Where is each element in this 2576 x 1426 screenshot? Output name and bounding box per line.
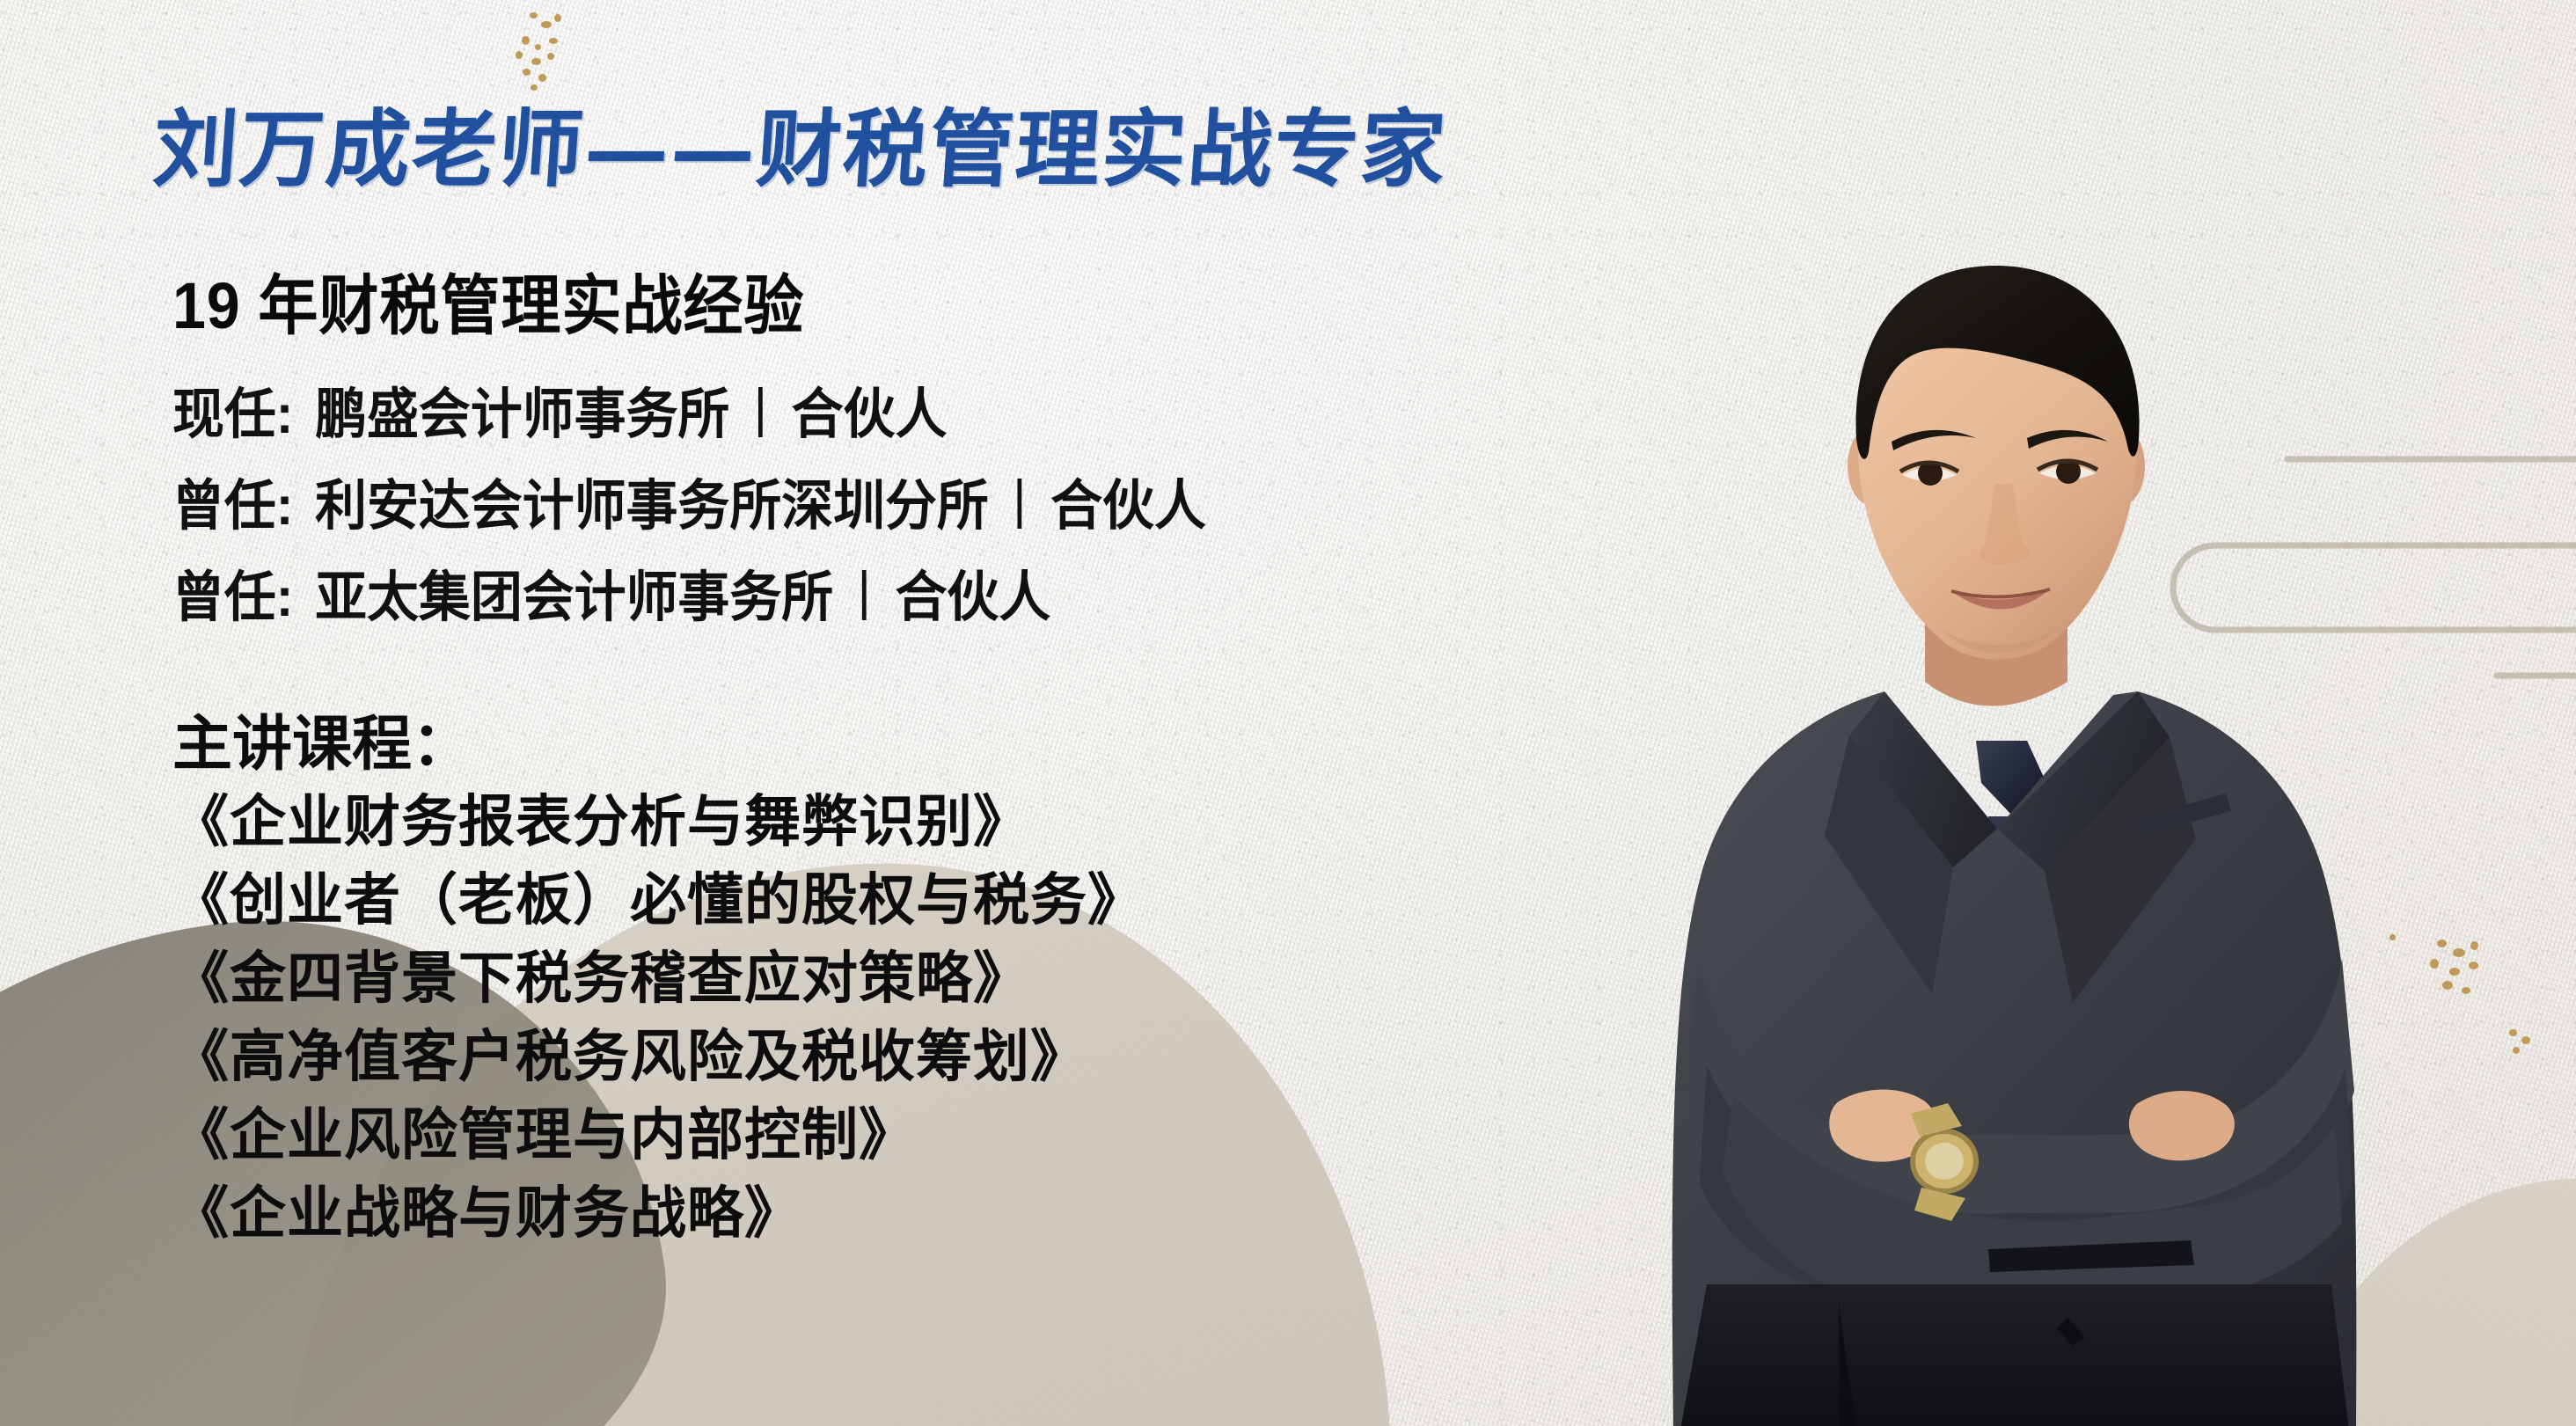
experience-subtitle: 19 年财税管理实战经验	[172, 253, 804, 347]
role-org: 利安达会计师事务所深圳分所	[315, 476, 989, 537]
role-position: 合伙人	[895, 567, 1050, 628]
role-separator: 丨	[833, 567, 895, 628]
role-separator: 丨	[729, 384, 791, 445]
role-position: 合伙人	[1050, 476, 1206, 537]
role-position: 合伙人	[792, 384, 948, 445]
course-item: 《创业者（老板）必懂的股权与税务》	[172, 861, 1624, 940]
role-org: 亚太集团会计师事务所	[315, 567, 833, 628]
course-item: 《企业风险管理与内部控制》	[172, 1096, 1624, 1174]
role-label: 曾任:	[172, 476, 293, 537]
role-label: 现任:	[172, 384, 293, 445]
course-item: 《企业战略与财务战略》	[172, 1174, 1624, 1253]
role-item: 曾任:利安达会计师事务所深圳分所丨合伙人	[172, 461, 1552, 552]
role-org: 鹏盛会计师事务所	[315, 384, 729, 445]
role-item: 曾任:亚太集团会计师事务所丨合伙人	[172, 552, 1552, 644]
role-separator: 丨	[989, 476, 1050, 537]
courses-heading: 主讲课程：	[172, 695, 472, 782]
course-item: 《高净值客户税务风险及税收筹划》	[172, 1018, 1624, 1096]
course-item: 《企业财务报表分析与舞弊识别》	[172, 783, 1624, 861]
course-list: 《企业财务报表分析与舞弊识别》 《创业者（老板）必懂的股权与税务》 《金四背景下…	[172, 783, 1624, 1253]
page-title: 刘万成老师——财税管理实战专家	[150, 81, 1452, 203]
instructor-portrait-photo	[1575, 202, 2455, 1426]
slide-canvas: 刘万成老师——财税管理实战专家 19 年财税管理实战经验 现任:鹏盛会计师事务所…	[0, 0, 2576, 1426]
role-label: 曾任:	[172, 567, 293, 628]
course-item: 《金四背景下税务稽查应对策略》	[172, 940, 1624, 1018]
role-item: 现任:鹏盛会计师事务所丨合伙人	[172, 369, 1552, 461]
role-list: 现任:鹏盛会计师事务所丨合伙人 曾任:利安达会计师事务所深圳分所丨合伙人 曾任:…	[172, 369, 1624, 644]
